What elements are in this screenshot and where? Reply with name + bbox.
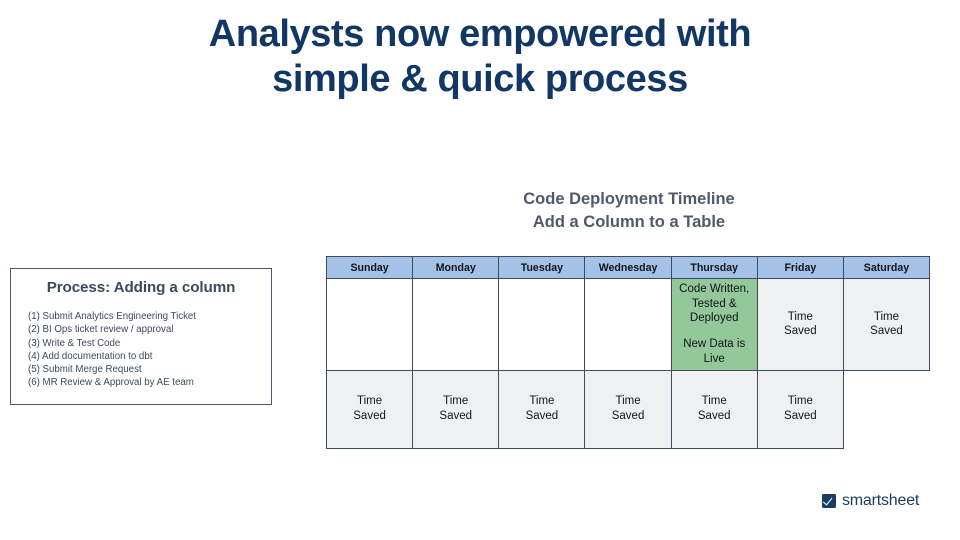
smartsheet-wordmark: smartsheet [842, 493, 919, 509]
deployed-line-2: Tested & [674, 297, 755, 312]
list-item: (3) Write & Test Code [28, 337, 259, 350]
timeline-caption-line-1: Code Deployment Timeline [328, 188, 930, 211]
list-item: (6) MR Review & Approval by AE team [28, 376, 259, 389]
list-item: (2) BI Ops ticket review / approval [28, 323, 259, 336]
saved-line-1: Time [415, 394, 496, 409]
cell-week2-thursday-saved: Time Saved [671, 370, 757, 448]
cell-week1-tuesday [499, 279, 585, 371]
smartsheet-logo: smartsheet [822, 493, 919, 509]
deployed-line-3: Deployed [674, 311, 755, 326]
deployed-line-1: Code Written, [674, 282, 755, 297]
cell-week2-monday-saved: Time Saved [413, 370, 499, 448]
column-header-wednesday: Wednesday [585, 257, 671, 279]
saved-line-2: Saved [587, 409, 668, 424]
cell-week2-wednesday-saved: Time Saved [585, 370, 671, 448]
timeline-caption-line-2: Add a Column to a Table [328, 211, 930, 234]
list-item: (1) Submit Analytics Engineering Ticket [28, 310, 259, 323]
timeline-caption: Code Deployment Timeline Add a Column to… [328, 188, 930, 234]
deployed-line-4: New Data is [674, 337, 755, 352]
column-header-monday: Monday [413, 257, 499, 279]
cell-week2-friday-saved: Time Saved [757, 370, 843, 448]
saved-line-1: Time [846, 310, 927, 325]
cell-week2-sunday-saved: Time Saved [327, 370, 413, 448]
cell-week1-monday [413, 279, 499, 371]
slide-canvas: Analysts now empowered with simple & qui… [0, 0, 960, 540]
page-title: Analysts now empowered with simple & qui… [120, 12, 840, 102]
list-item: (4) Add documentation to dbt [28, 350, 259, 363]
process-steps-list: (1) Submit Analytics Engineering Ticket … [23, 310, 259, 390]
code-deployment-timeline-table: Sunday Monday Tuesday Wednesday Thursday… [326, 256, 930, 449]
cell-week1-wednesday [585, 279, 671, 371]
saved-line-2: Saved [674, 409, 755, 424]
page-title-line-1: Analysts now empowered with [120, 12, 840, 57]
cell-week1-friday-saved: Time Saved [757, 279, 843, 371]
saved-line-2: Saved [760, 409, 841, 424]
page-title-line-2: simple & quick process [120, 57, 840, 102]
saved-line-2: Saved [501, 409, 582, 424]
column-header-thursday: Thursday [671, 257, 757, 279]
cell-week1-thursday-deployed: Code Written, Tested & Deployed New Data… [671, 279, 757, 371]
process-card: Process: Adding a column (1) Submit Anal… [10, 268, 272, 405]
saved-line-1: Time [329, 394, 410, 409]
list-item: (5) Submit Merge Request [28, 363, 259, 376]
column-header-saturday: Saturday [843, 257, 929, 279]
saved-line-2: Saved [760, 324, 841, 339]
table-header-row: Sunday Monday Tuesday Wednesday Thursday… [327, 257, 930, 279]
column-header-sunday: Sunday [327, 257, 413, 279]
table-row: Code Written, Tested & Deployed New Data… [327, 279, 930, 371]
process-card-title: Process: Adding a column [23, 279, 259, 296]
deployed-spacer [674, 326, 755, 337]
saved-line-1: Time [760, 394, 841, 409]
saved-line-2: Saved [846, 324, 927, 339]
cell-week1-saturday-saved: Time Saved [843, 279, 929, 371]
cell-week1-sunday [327, 279, 413, 371]
cell-week2-saturday-blank [843, 370, 929, 448]
table-row: Time Saved Time Saved Time Saved Time Sa… [327, 370, 930, 448]
column-header-friday: Friday [757, 257, 843, 279]
saved-line-1: Time [501, 394, 582, 409]
checkbox-check-icon [822, 494, 836, 508]
cell-week2-tuesday-saved: Time Saved [499, 370, 585, 448]
column-header-tuesday: Tuesday [499, 257, 585, 279]
saved-line-1: Time [587, 394, 668, 409]
saved-line-1: Time [674, 394, 755, 409]
saved-line-1: Time [760, 310, 841, 325]
deployed-line-5: Live [674, 352, 755, 367]
saved-line-2: Saved [329, 409, 410, 424]
saved-line-2: Saved [415, 409, 496, 424]
